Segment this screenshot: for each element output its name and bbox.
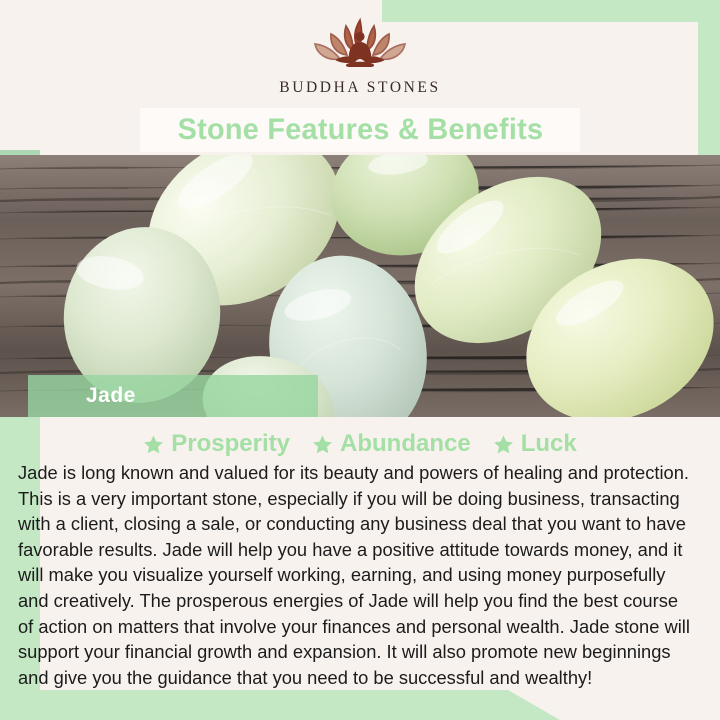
infographic-page: BUDDHA STONES Stone Features & Benefits <box>0 0 720 720</box>
brand-logo: BUDDHA STONES <box>0 14 720 106</box>
benefit-label: Prosperity <box>171 430 290 458</box>
photo-caption-badge: Jade <box>28 375 318 417</box>
page-title: Stone Features & Benefits <box>177 113 543 147</box>
brand-name: BUDDHA STONES <box>279 79 440 97</box>
benefit-label: Abundance <box>340 430 471 458</box>
benefit-item-luck: Luck <box>493 430 577 458</box>
star-icon <box>143 434 164 455</box>
description-paragraph: Jade is long known and valued for its be… <box>18 460 694 690</box>
benefit-label: Luck <box>521 430 577 458</box>
lotus-meditation-icon <box>285 14 435 76</box>
benefits-row: Prosperity Abundance Luck <box>0 428 720 460</box>
benefit-item-prosperity: Prosperity <box>143 430 290 458</box>
title-banner: Stone Features & Benefits <box>140 108 580 152</box>
photo-caption-text: Jade <box>86 384 136 408</box>
accent-band-bottom <box>0 690 560 720</box>
star-icon <box>493 434 514 455</box>
benefit-item-abundance: Abundance <box>312 430 471 458</box>
star-icon <box>312 434 333 455</box>
